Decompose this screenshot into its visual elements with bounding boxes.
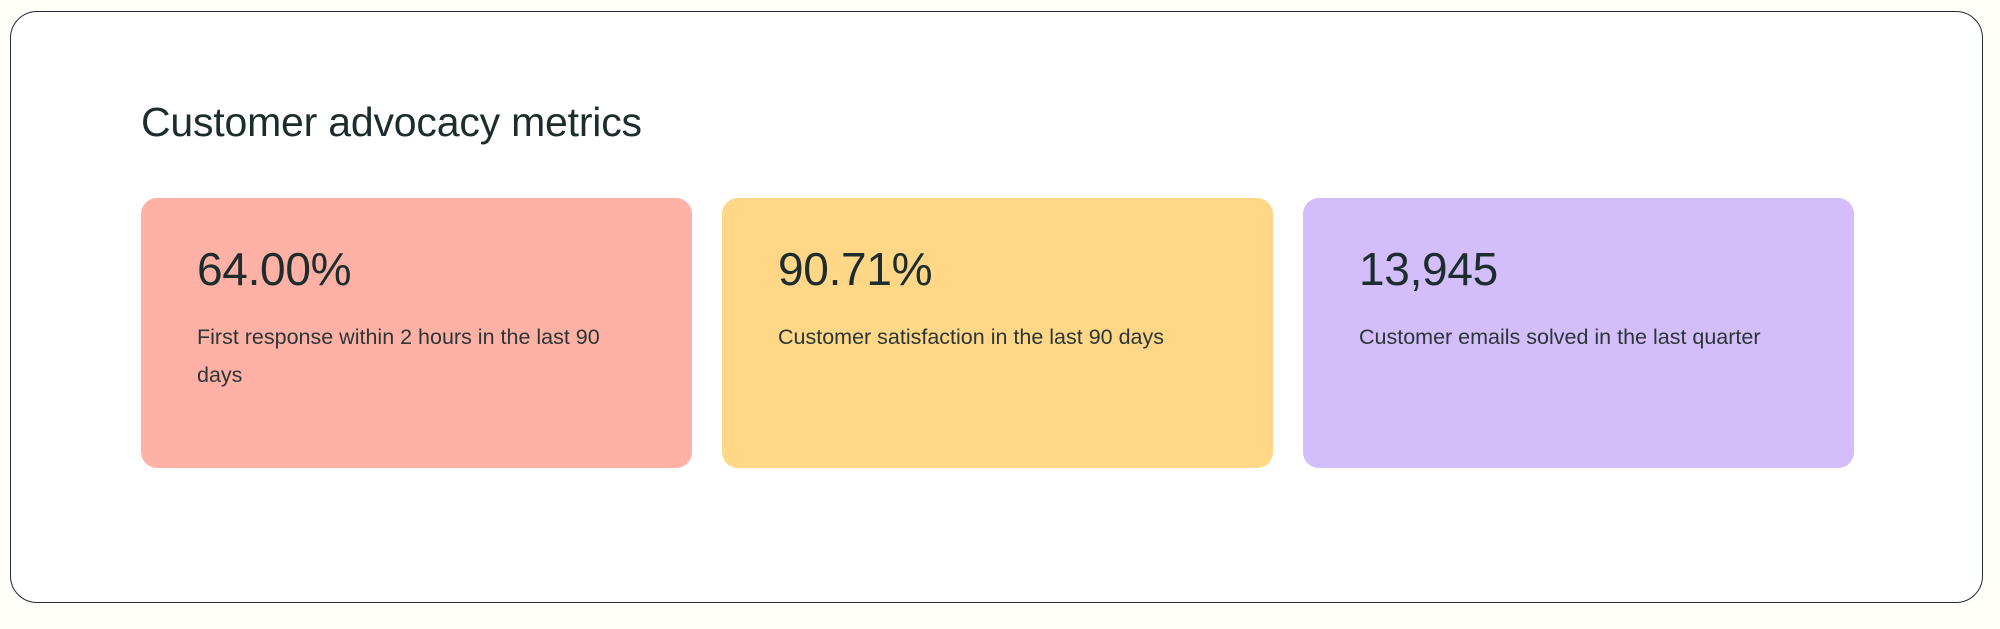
metric-label: Customer satisfaction in the last 90 day… [778, 318, 1217, 356]
metric-card-emails-solved: 13,945 Customer emails solved in the las… [1303, 198, 1854, 468]
metric-card-customer-satisfaction: 90.71% Customer satisfaction in the last… [722, 198, 1273, 468]
metric-label: First response within 2 hours in the las… [197, 318, 636, 394]
metric-cards-row: 64.00% First response within 2 hours in … [141, 198, 1854, 468]
customer-advocacy-metrics-panel: Customer advocacy metrics 64.00% First r… [10, 11, 1983, 603]
metric-value: 13,945 [1359, 242, 1798, 296]
panel-content: Customer advocacy metrics 64.00% First r… [11, 12, 1982, 468]
metric-value: 64.00% [197, 242, 636, 296]
metric-label: Customer emails solved in the last quart… [1359, 318, 1798, 356]
metric-card-first-response: 64.00% First response within 2 hours in … [141, 198, 692, 468]
metric-value: 90.71% [778, 242, 1217, 296]
page-title: Customer advocacy metrics [141, 98, 1854, 146]
